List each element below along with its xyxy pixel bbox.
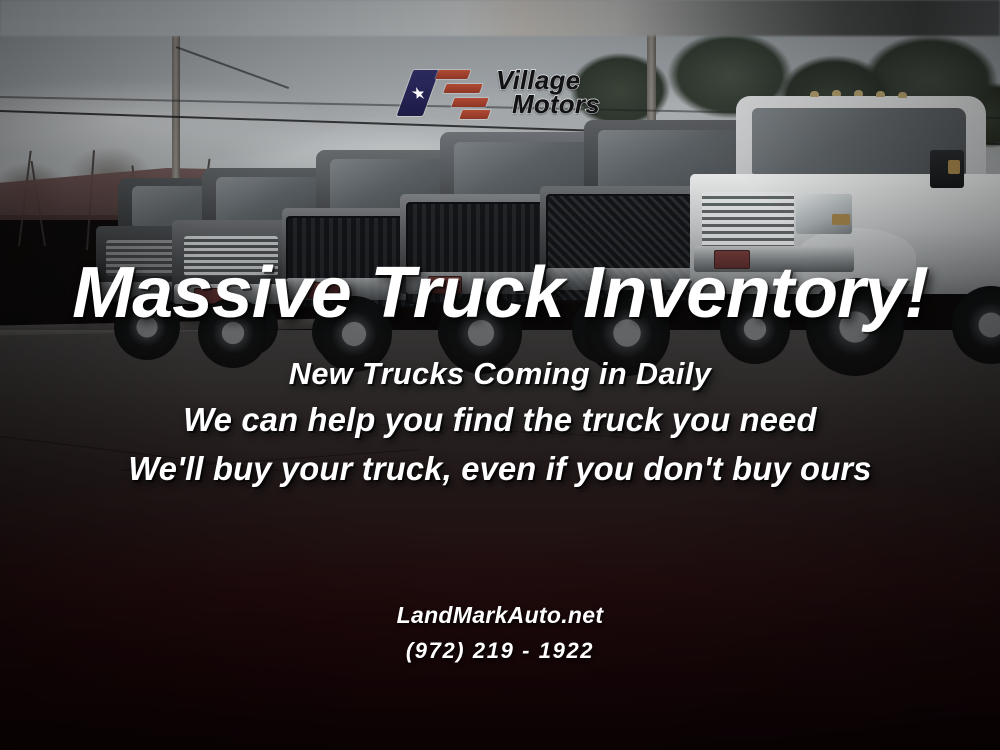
subheading-2: We can help you find the truck you need [5,401,995,439]
village-motors-logo[interactable]: Village Motors [405,62,605,124]
website-link[interactable]: LandMarkAuto.net [0,602,1000,629]
flag-stripe [451,98,488,107]
logo-line-2: Motors [512,89,600,119]
promo-banner: Village Motors Massive Truck Inventory! … [0,0,1000,750]
flag-stripe [435,70,470,79]
subheading-1: New Trucks Coming in Daily [5,356,995,392]
flag-stripe [443,84,482,93]
subheading-3: We'll buy your truck, even if you don't … [5,450,995,488]
logo-wordmark: Village Motors [496,69,600,117]
texas-flag-stripes-icon [405,68,489,118]
headline: Massive Truck Inventory! [0,252,1000,334]
phone-number[interactable]: (972) 219 - 1922 [0,638,1000,664]
flag-stripe [459,110,490,119]
